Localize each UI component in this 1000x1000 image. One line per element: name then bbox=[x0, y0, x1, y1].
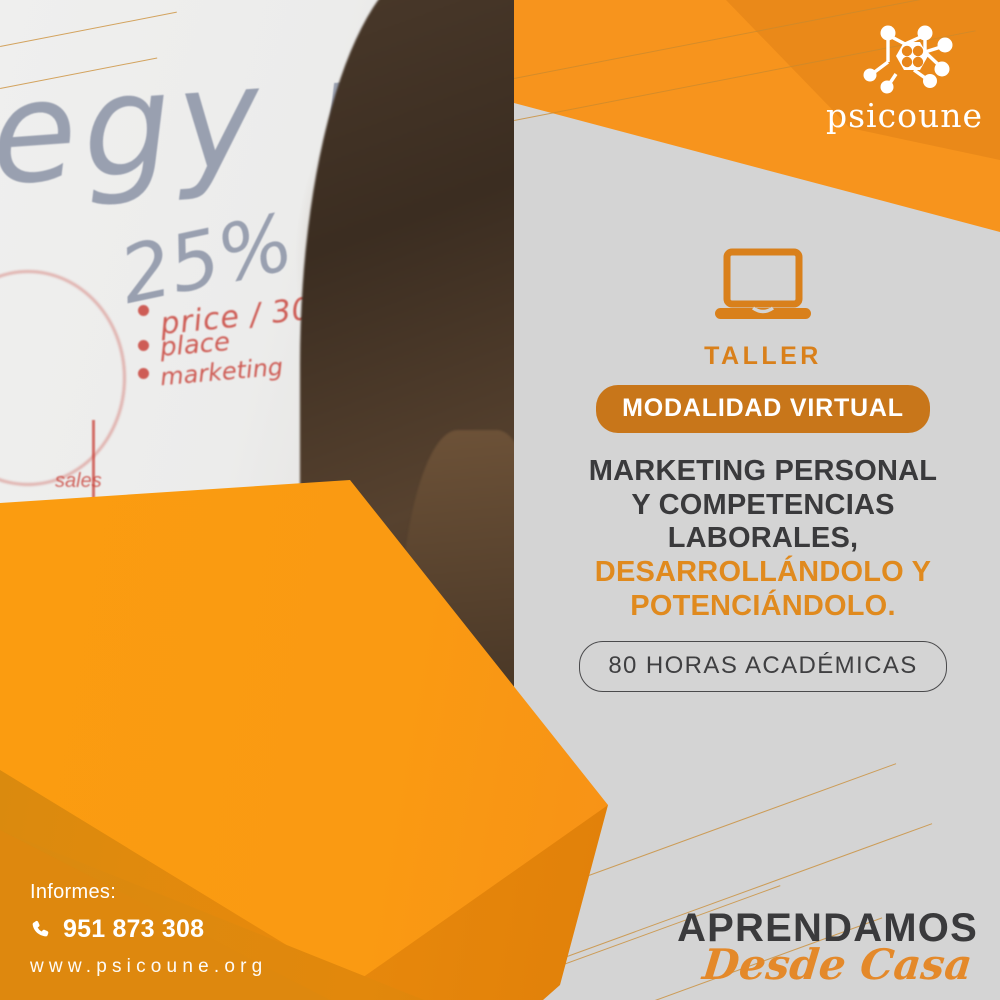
brand-logo[interactable]: psicoune bbox=[826, 22, 976, 132]
course-title-line: LABORALES, bbox=[540, 522, 986, 556]
whiteboard-chart-label: sales bbox=[55, 470, 102, 493]
course-kicker: TALLER bbox=[540, 342, 986, 371]
course-title-line: MARKETING PERSONAL bbox=[540, 455, 986, 489]
laptop-icon bbox=[711, 248, 815, 324]
course-title-line: Y COMPETENCIAS bbox=[540, 489, 986, 523]
contact-website[interactable]: www.psicoune.org bbox=[30, 956, 267, 978]
tagline-block: APRENDAMOS Desde Casa bbox=[677, 908, 978, 986]
contact-phone-row[interactable]: 951 873 308 bbox=[30, 915, 267, 944]
modality-badge-row: MODALIDAD VIRTUAL bbox=[540, 385, 986, 433]
contact-phone-number: 951 873 308 bbox=[63, 915, 204, 944]
modality-badge: MODALIDAD VIRTUAL bbox=[596, 385, 930, 433]
course-info-panel: TALLER MODALIDAD VIRTUAL MARKETING PERSO… bbox=[540, 248, 986, 692]
contact-label: Informes: bbox=[30, 881, 267, 904]
contact-block: Informes: 951 873 308 www.psicoune.org bbox=[30, 881, 267, 978]
promotional-poster: egy p 25% price / 30% place marketing sa… bbox=[0, 0, 1000, 1000]
hours-badge: 80 HORAS ACADÉMICAS bbox=[579, 641, 946, 692]
course-title-line: POTENCIÁNDOLO. bbox=[540, 590, 986, 624]
brand-wordmark: psicoune bbox=[826, 99, 976, 132]
course-title-line: DESARROLLÁNDOLO Y bbox=[540, 556, 986, 590]
molecule-network-icon bbox=[826, 22, 976, 100]
whiteboard-bullet-dot bbox=[138, 305, 149, 316]
tagline-line-2: Desde Casa bbox=[675, 944, 974, 986]
hours-badge-row: 80 HORAS ACADÉMICAS bbox=[540, 623, 986, 692]
whiteboard-bullet-dot bbox=[138, 340, 149, 351]
whiteboard-bullet-dot bbox=[138, 368, 149, 379]
course-title: MARKETING PERSONAL Y COMPETENCIAS LABORA… bbox=[540, 455, 986, 623]
phone-icon bbox=[30, 919, 52, 941]
